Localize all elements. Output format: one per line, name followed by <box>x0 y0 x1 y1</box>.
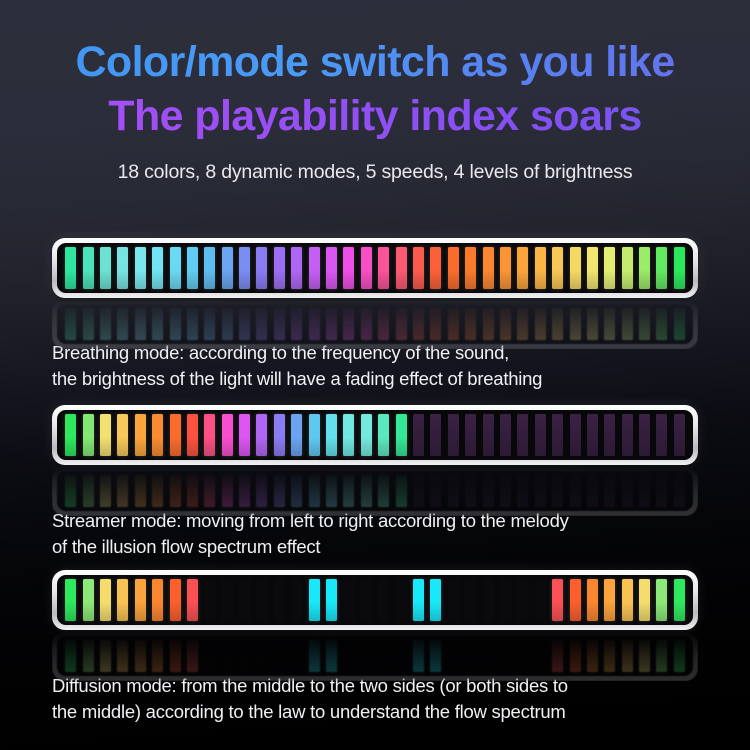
led-cell-off <box>396 640 407 672</box>
led-cell-off <box>517 640 528 672</box>
led-cell-slot <box>288 308 305 340</box>
led-cell-off <box>378 579 389 621</box>
led-cell-on <box>100 640 111 672</box>
led-cell-on <box>65 475 76 507</box>
led-cell-slot <box>549 640 566 672</box>
led-cell-off <box>535 579 546 621</box>
led-cell-dim <box>552 414 563 456</box>
led-cell-slot <box>375 414 392 456</box>
led-cell-on <box>83 475 94 507</box>
led-cell-slot <box>358 247 375 289</box>
led-cell-on <box>239 475 250 507</box>
led-cell-on <box>587 247 598 289</box>
led-cell-slot <box>79 308 96 340</box>
led-cell-slot <box>497 308 514 340</box>
led-cell-slot <box>462 247 479 289</box>
led-cell-dim <box>465 475 476 507</box>
led-cell-on <box>413 640 424 672</box>
led-cell-on <box>256 475 267 507</box>
led-cell-on <box>274 414 285 456</box>
led-cell-on <box>135 579 146 621</box>
led-cell-slot <box>549 247 566 289</box>
led-cell-off <box>222 579 233 621</box>
led-cell-slot <box>114 247 131 289</box>
led-cell-on <box>309 308 320 340</box>
led-cell-slot <box>236 247 253 289</box>
led-cell-slot <box>601 414 618 456</box>
led-cell-slot <box>305 247 322 289</box>
led-cell-off <box>291 579 302 621</box>
led-cell-slot <box>340 308 357 340</box>
led-cell-slot <box>166 247 183 289</box>
led-cell-on <box>152 308 163 340</box>
page-title-secondary: The playability index soars <box>0 90 750 142</box>
led-cell-on <box>604 579 615 621</box>
led-cell-on <box>396 247 407 289</box>
led-cell-slot <box>410 475 427 507</box>
led-cell-slot <box>62 247 79 289</box>
led-cell-slot <box>271 308 288 340</box>
led-cell-slot <box>636 247 653 289</box>
led-cell-slot <box>184 579 201 621</box>
led-cell-on <box>65 579 76 621</box>
led-cell-slot <box>132 475 149 507</box>
led-cell-on <box>570 579 581 621</box>
led-cell-off <box>396 579 407 621</box>
led-cell-slot <box>323 247 340 289</box>
led-cell-dim <box>604 475 615 507</box>
led-cell-on <box>65 414 76 456</box>
led-cell-slot <box>514 640 531 672</box>
led-cell-on <box>100 247 111 289</box>
led-cell-slot <box>497 640 514 672</box>
led-cell-slot <box>532 308 549 340</box>
led-cell-slot <box>584 579 601 621</box>
led-cell-slot <box>619 640 636 672</box>
led-cell-off <box>256 579 267 621</box>
led-cell-on <box>170 640 181 672</box>
led-cell-on <box>170 247 181 289</box>
led-cell-slot <box>79 247 96 289</box>
mode-caption-diffusion: Diffusion mode: from the middle to the t… <box>52 673 712 726</box>
led-cell-slot <box>219 247 236 289</box>
led-cell-slot <box>671 247 688 289</box>
led-cell-slot <box>288 640 305 672</box>
led-cell-slot <box>410 308 427 340</box>
led-cell-off <box>343 640 354 672</box>
led-cell-off <box>483 640 494 672</box>
led-cell-off <box>256 640 267 672</box>
led-cell-slot <box>445 475 462 507</box>
led-cell-dim <box>656 475 667 507</box>
led-cell-slot <box>149 247 166 289</box>
led-cell-on <box>639 308 650 340</box>
led-cell-off <box>378 640 389 672</box>
led-cell-slot <box>97 579 114 621</box>
led-cell-on <box>291 475 302 507</box>
led-cell-slot <box>358 579 375 621</box>
led-module-diffusion <box>52 570 698 681</box>
led-cell-slot <box>288 579 305 621</box>
led-cell-slot <box>219 414 236 456</box>
led-cell-on <box>622 308 633 340</box>
led-cell-slot <box>462 308 479 340</box>
led-cell-slot <box>619 579 636 621</box>
led-cell-slot <box>79 579 96 621</box>
led-cell-slot <box>253 414 270 456</box>
led-cell-off <box>274 640 285 672</box>
led-cell-slot <box>340 247 357 289</box>
led-cell-on <box>430 247 441 289</box>
led-cell-slot <box>149 308 166 340</box>
led-cell-slot <box>636 414 653 456</box>
led-cell-on <box>587 308 598 340</box>
led-cell-on <box>152 579 163 621</box>
led-cell-on <box>430 308 441 340</box>
led-cell-slot <box>514 247 531 289</box>
led-cell-slot <box>114 414 131 456</box>
led-cell-slot <box>219 579 236 621</box>
led-cell-on <box>396 308 407 340</box>
led-cell-slot <box>636 308 653 340</box>
led-cell-on <box>639 579 650 621</box>
reflection-inner <box>57 304 693 344</box>
led-cell-slot <box>410 579 427 621</box>
led-cell-slot <box>427 579 444 621</box>
led-cell-dim <box>639 414 650 456</box>
led-cell-slot <box>375 640 392 672</box>
led-cell-on <box>448 247 459 289</box>
led-cell-slot <box>566 579 583 621</box>
led-cell-slot <box>584 414 601 456</box>
led-cell-slot <box>566 475 583 507</box>
led-cell-slot <box>497 247 514 289</box>
led-cell-on <box>326 475 337 507</box>
led-cell-slot <box>392 308 409 340</box>
led-cell-on <box>222 414 233 456</box>
led-cell-slot <box>636 579 653 621</box>
led-cell-on <box>361 247 372 289</box>
led-cell-slot <box>340 640 357 672</box>
led-cell-slot <box>219 640 236 672</box>
led-cell-slot <box>427 247 444 289</box>
led-cell-on <box>656 640 667 672</box>
led-cell-slot <box>201 414 218 456</box>
led-cell-slot <box>601 308 618 340</box>
led-cell-dim <box>587 414 598 456</box>
led-cell-slot <box>305 579 322 621</box>
mode-caption-breathing: Breathing mode: according to the frequen… <box>52 340 712 393</box>
led-cell-slot <box>62 308 79 340</box>
led-cell-on <box>309 640 320 672</box>
led-cell-off <box>448 640 459 672</box>
led-cell-on <box>83 579 94 621</box>
led-cell-slot <box>323 475 340 507</box>
led-cell-slot <box>479 414 496 456</box>
led-cell-slot <box>323 414 340 456</box>
led-cell-on <box>552 308 563 340</box>
led-cell-slot <box>201 640 218 672</box>
led-cell-slot <box>97 640 114 672</box>
led-cell-on <box>517 308 528 340</box>
led-cell-on <box>187 640 198 672</box>
led-cell-slot <box>132 414 149 456</box>
led-cell-slot <box>114 640 131 672</box>
led-cell-slot <box>323 579 340 621</box>
led-cell-on <box>187 579 198 621</box>
led-cell-on <box>204 308 215 340</box>
led-cell-slot <box>62 414 79 456</box>
led-cell-slot <box>584 475 601 507</box>
led-cell-on <box>604 640 615 672</box>
led-cell-slot <box>358 475 375 507</box>
led-cell-slot <box>392 247 409 289</box>
heading-block: Color/mode switch as you like The playab… <box>0 0 750 184</box>
led-cell-on <box>239 247 250 289</box>
led-cell-slot <box>132 640 149 672</box>
led-cell-on <box>343 414 354 456</box>
led-cell-slot <box>166 308 183 340</box>
led-cell-slot <box>132 308 149 340</box>
led-cell-on <box>552 579 563 621</box>
led-cell-slot <box>375 308 392 340</box>
led-cell-dim <box>517 475 528 507</box>
led-cell-slot <box>410 640 427 672</box>
reflection-inner <box>57 471 693 511</box>
led-cell-slot <box>671 308 688 340</box>
led-cell-slot <box>566 640 583 672</box>
led-cell-dim <box>413 414 424 456</box>
led-cell-on <box>274 308 285 340</box>
led-cell-on <box>152 640 163 672</box>
led-cell-off <box>361 640 372 672</box>
led-cell-on <box>326 247 337 289</box>
led-cell-slot <box>462 579 479 621</box>
led-cell-slot <box>288 475 305 507</box>
led-cell-on <box>117 475 128 507</box>
led-cell-slot <box>149 475 166 507</box>
led-cell-on <box>639 640 650 672</box>
led-cell-slot <box>410 247 427 289</box>
led-cell-slot <box>392 579 409 621</box>
led-cell-on <box>274 247 285 289</box>
led-cell-on <box>204 414 215 456</box>
led-cell-slot <box>79 640 96 672</box>
led-cell-on <box>309 579 320 621</box>
led-cell-slot <box>653 475 670 507</box>
led-cell-slot <box>445 579 462 621</box>
led-cell-on <box>100 414 111 456</box>
led-cell-dim <box>622 414 633 456</box>
led-cell-on <box>465 308 476 340</box>
led-cell-slot <box>671 640 688 672</box>
led-cell-slot <box>427 308 444 340</box>
led-bar-streamer[interactable] <box>52 405 698 465</box>
led-cell-slot <box>166 475 183 507</box>
led-cell-slot <box>671 475 688 507</box>
led-cell-dim <box>604 414 615 456</box>
led-cell-slot <box>305 475 322 507</box>
led-cell-slot <box>219 308 236 340</box>
led-cell-on <box>326 308 337 340</box>
led-cell-slot <box>619 308 636 340</box>
led-cell-dim <box>535 414 546 456</box>
led-cell-slot <box>236 640 253 672</box>
led-bar-inner <box>57 575 693 625</box>
led-cell-on <box>256 414 267 456</box>
led-cell-on <box>361 475 372 507</box>
led-cell-on <box>622 579 633 621</box>
led-cell-on <box>361 414 372 456</box>
led-cell-slot <box>584 640 601 672</box>
led-cell-on <box>100 579 111 621</box>
led-cell-on <box>65 640 76 672</box>
led-cell-slot <box>462 475 479 507</box>
led-cell-slot <box>201 308 218 340</box>
led-cell-slot <box>427 640 444 672</box>
led-cell-on <box>535 247 546 289</box>
led-cell-slot <box>201 475 218 507</box>
led-cell-on <box>204 247 215 289</box>
led-cell-on <box>326 414 337 456</box>
led-cell-on <box>170 475 181 507</box>
led-cell-slot <box>132 247 149 289</box>
led-bar-diffusion[interactable] <box>52 570 698 630</box>
led-cell-slot <box>253 475 270 507</box>
led-cell-on <box>222 475 233 507</box>
led-cell-slot <box>166 414 183 456</box>
led-cell-slot <box>114 308 131 340</box>
led-cell-dim <box>483 414 494 456</box>
led-cell-on <box>343 475 354 507</box>
led-cell-dim <box>570 475 581 507</box>
led-cell-slot <box>619 247 636 289</box>
led-cell-slot <box>514 579 531 621</box>
reflection-inner <box>57 636 693 676</box>
led-cell-slot <box>497 414 514 456</box>
led-cell-dim <box>639 475 650 507</box>
led-cell-on <box>326 579 337 621</box>
led-cell-slot <box>271 640 288 672</box>
led-cell-on <box>570 308 581 340</box>
led-cell-on <box>343 247 354 289</box>
led-cell-slot <box>671 579 688 621</box>
led-cell-on <box>83 308 94 340</box>
led-cell-on <box>309 475 320 507</box>
led-cell-on <box>135 475 146 507</box>
led-cell-on <box>604 247 615 289</box>
led-cell-slot <box>479 475 496 507</box>
led-cell-slot <box>497 579 514 621</box>
led-cell-on <box>656 308 667 340</box>
led-cell-off <box>204 579 215 621</box>
led-cell-on <box>378 247 389 289</box>
led-cell-on <box>291 414 302 456</box>
led-cell-slot <box>340 414 357 456</box>
led-cell-on <box>117 308 128 340</box>
led-cell-slot <box>619 414 636 456</box>
led-cell-slot <box>271 475 288 507</box>
led-cell-on <box>117 414 128 456</box>
led-cell-on <box>83 247 94 289</box>
led-bar-breathing[interactable] <box>52 238 698 298</box>
led-cell-on <box>83 640 94 672</box>
led-cell-slot <box>462 414 479 456</box>
led-cell-off <box>204 640 215 672</box>
led-cell-on <box>587 640 598 672</box>
led-cell-dim <box>535 475 546 507</box>
led-cell-slot <box>97 414 114 456</box>
led-cell-slot <box>532 475 549 507</box>
led-cell-slot <box>97 247 114 289</box>
led-cell-on <box>483 247 494 289</box>
led-cell-slot <box>236 308 253 340</box>
led-cell-on <box>622 640 633 672</box>
led-cell-off <box>535 640 546 672</box>
led-cell-on <box>309 414 320 456</box>
led-cell-on <box>309 247 320 289</box>
led-cell-on <box>535 308 546 340</box>
led-cell-slot <box>445 308 462 340</box>
led-cell-slot <box>358 308 375 340</box>
led-cell-slot <box>149 640 166 672</box>
led-cell-slot <box>392 475 409 507</box>
led-cell-slot <box>62 579 79 621</box>
led-cell-dim <box>483 475 494 507</box>
led-cell-dim <box>413 475 424 507</box>
led-cell-on <box>187 247 198 289</box>
led-cell-off <box>517 579 528 621</box>
led-cell-on <box>552 640 563 672</box>
led-cell-on <box>152 247 163 289</box>
led-cell-dim <box>674 414 685 456</box>
led-cell-on <box>152 414 163 456</box>
led-cell-on <box>117 579 128 621</box>
led-cell-dim <box>465 414 476 456</box>
led-cell-off <box>361 579 372 621</box>
led-cell-on <box>117 640 128 672</box>
led-cell-slot <box>149 414 166 456</box>
led-cell-slot <box>184 475 201 507</box>
led-cell-slot <box>497 475 514 507</box>
led-cell-slot <box>184 640 201 672</box>
led-cell-slot <box>149 579 166 621</box>
led-cell-on <box>65 247 76 289</box>
led-cell-slot <box>514 308 531 340</box>
led-cell-on <box>222 308 233 340</box>
led-cell-slot <box>236 579 253 621</box>
led-cell-on <box>656 247 667 289</box>
led-cell-off <box>291 640 302 672</box>
led-cell-slot <box>427 414 444 456</box>
led-cell-on <box>396 414 407 456</box>
led-cell-slot <box>184 414 201 456</box>
led-cell-slot <box>358 640 375 672</box>
led-cell-slot <box>288 247 305 289</box>
led-cell-slot <box>236 475 253 507</box>
led-cell-slot <box>253 308 270 340</box>
led-cell-off <box>465 579 476 621</box>
led-cell-slot <box>479 640 496 672</box>
led-cell-slot <box>375 247 392 289</box>
led-cell-on <box>430 579 441 621</box>
led-cell-on <box>570 640 581 672</box>
led-cell-on <box>674 640 685 672</box>
led-cell-slot <box>532 640 549 672</box>
led-module-breathing <box>52 238 698 349</box>
led-cell-slot <box>305 414 322 456</box>
led-cell-slot <box>445 414 462 456</box>
